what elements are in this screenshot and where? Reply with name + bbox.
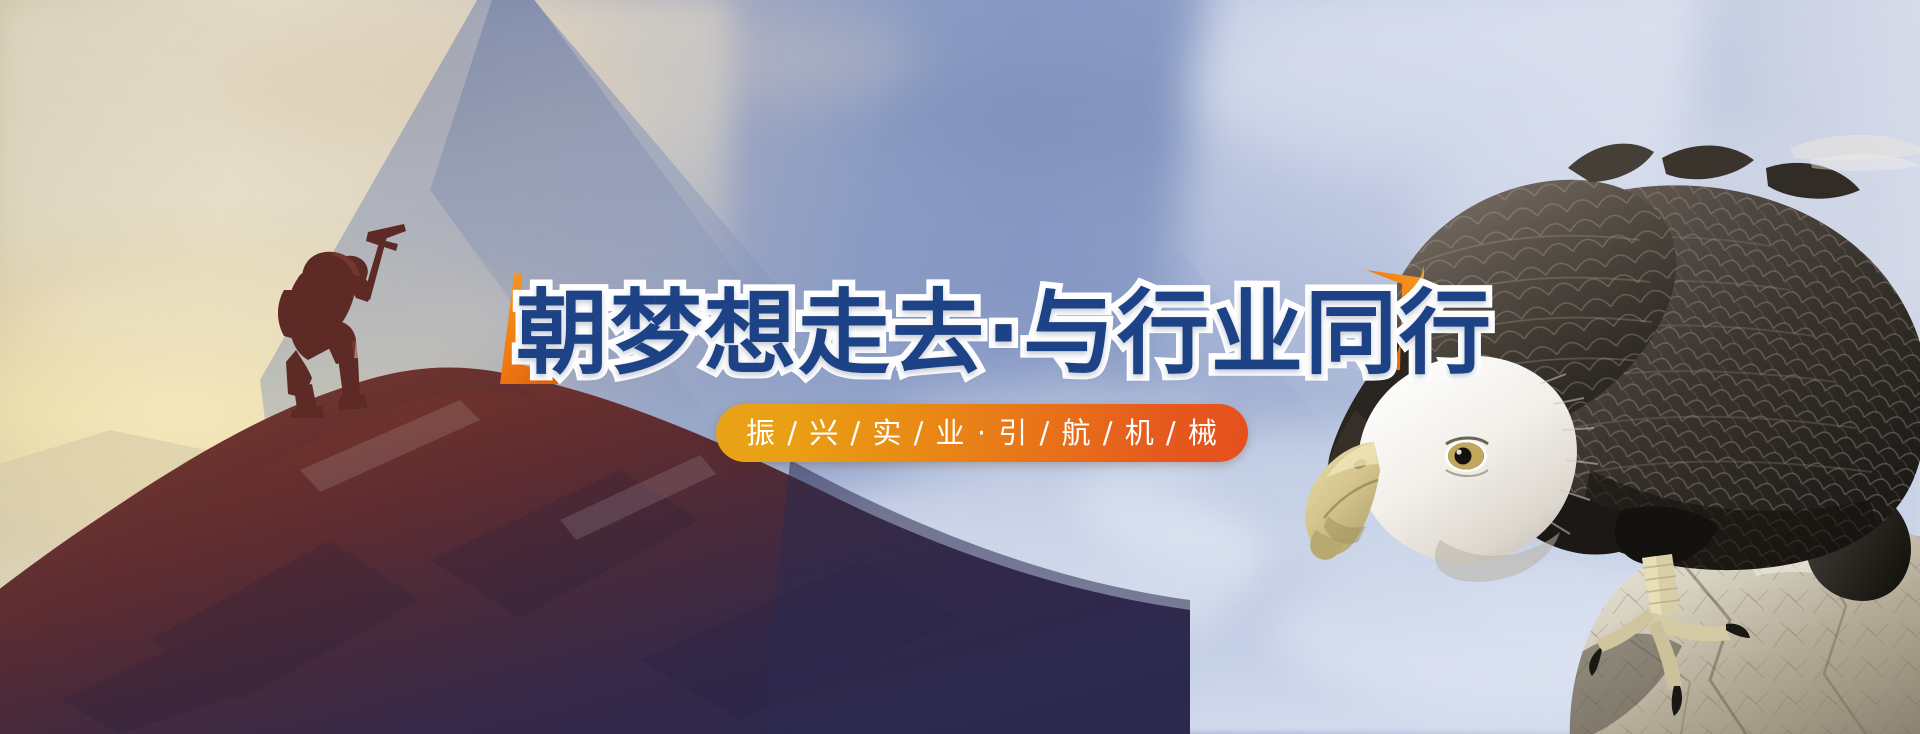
- banner-headline[interactable]: 朝梦想走去·与行业同行: [516, 288, 1493, 380]
- mountaineer-silhouette: [242, 218, 452, 418]
- bald-eagle-illustration: [1210, 40, 1920, 734]
- banner-tagline-text: 振 / 兴 / 实 / 业 · 引 / 航 / 机 / 械: [746, 419, 1218, 448]
- hero-banner: 朝梦想走去·与行业同行 振 / 兴 / 实 / 业 · 引 / 航 / 机 / …: [0, 0, 1920, 734]
- banner-tagline-pill[interactable]: 振 / 兴 / 实 / 业 · 引 / 航 / 机 / 械: [716, 404, 1248, 462]
